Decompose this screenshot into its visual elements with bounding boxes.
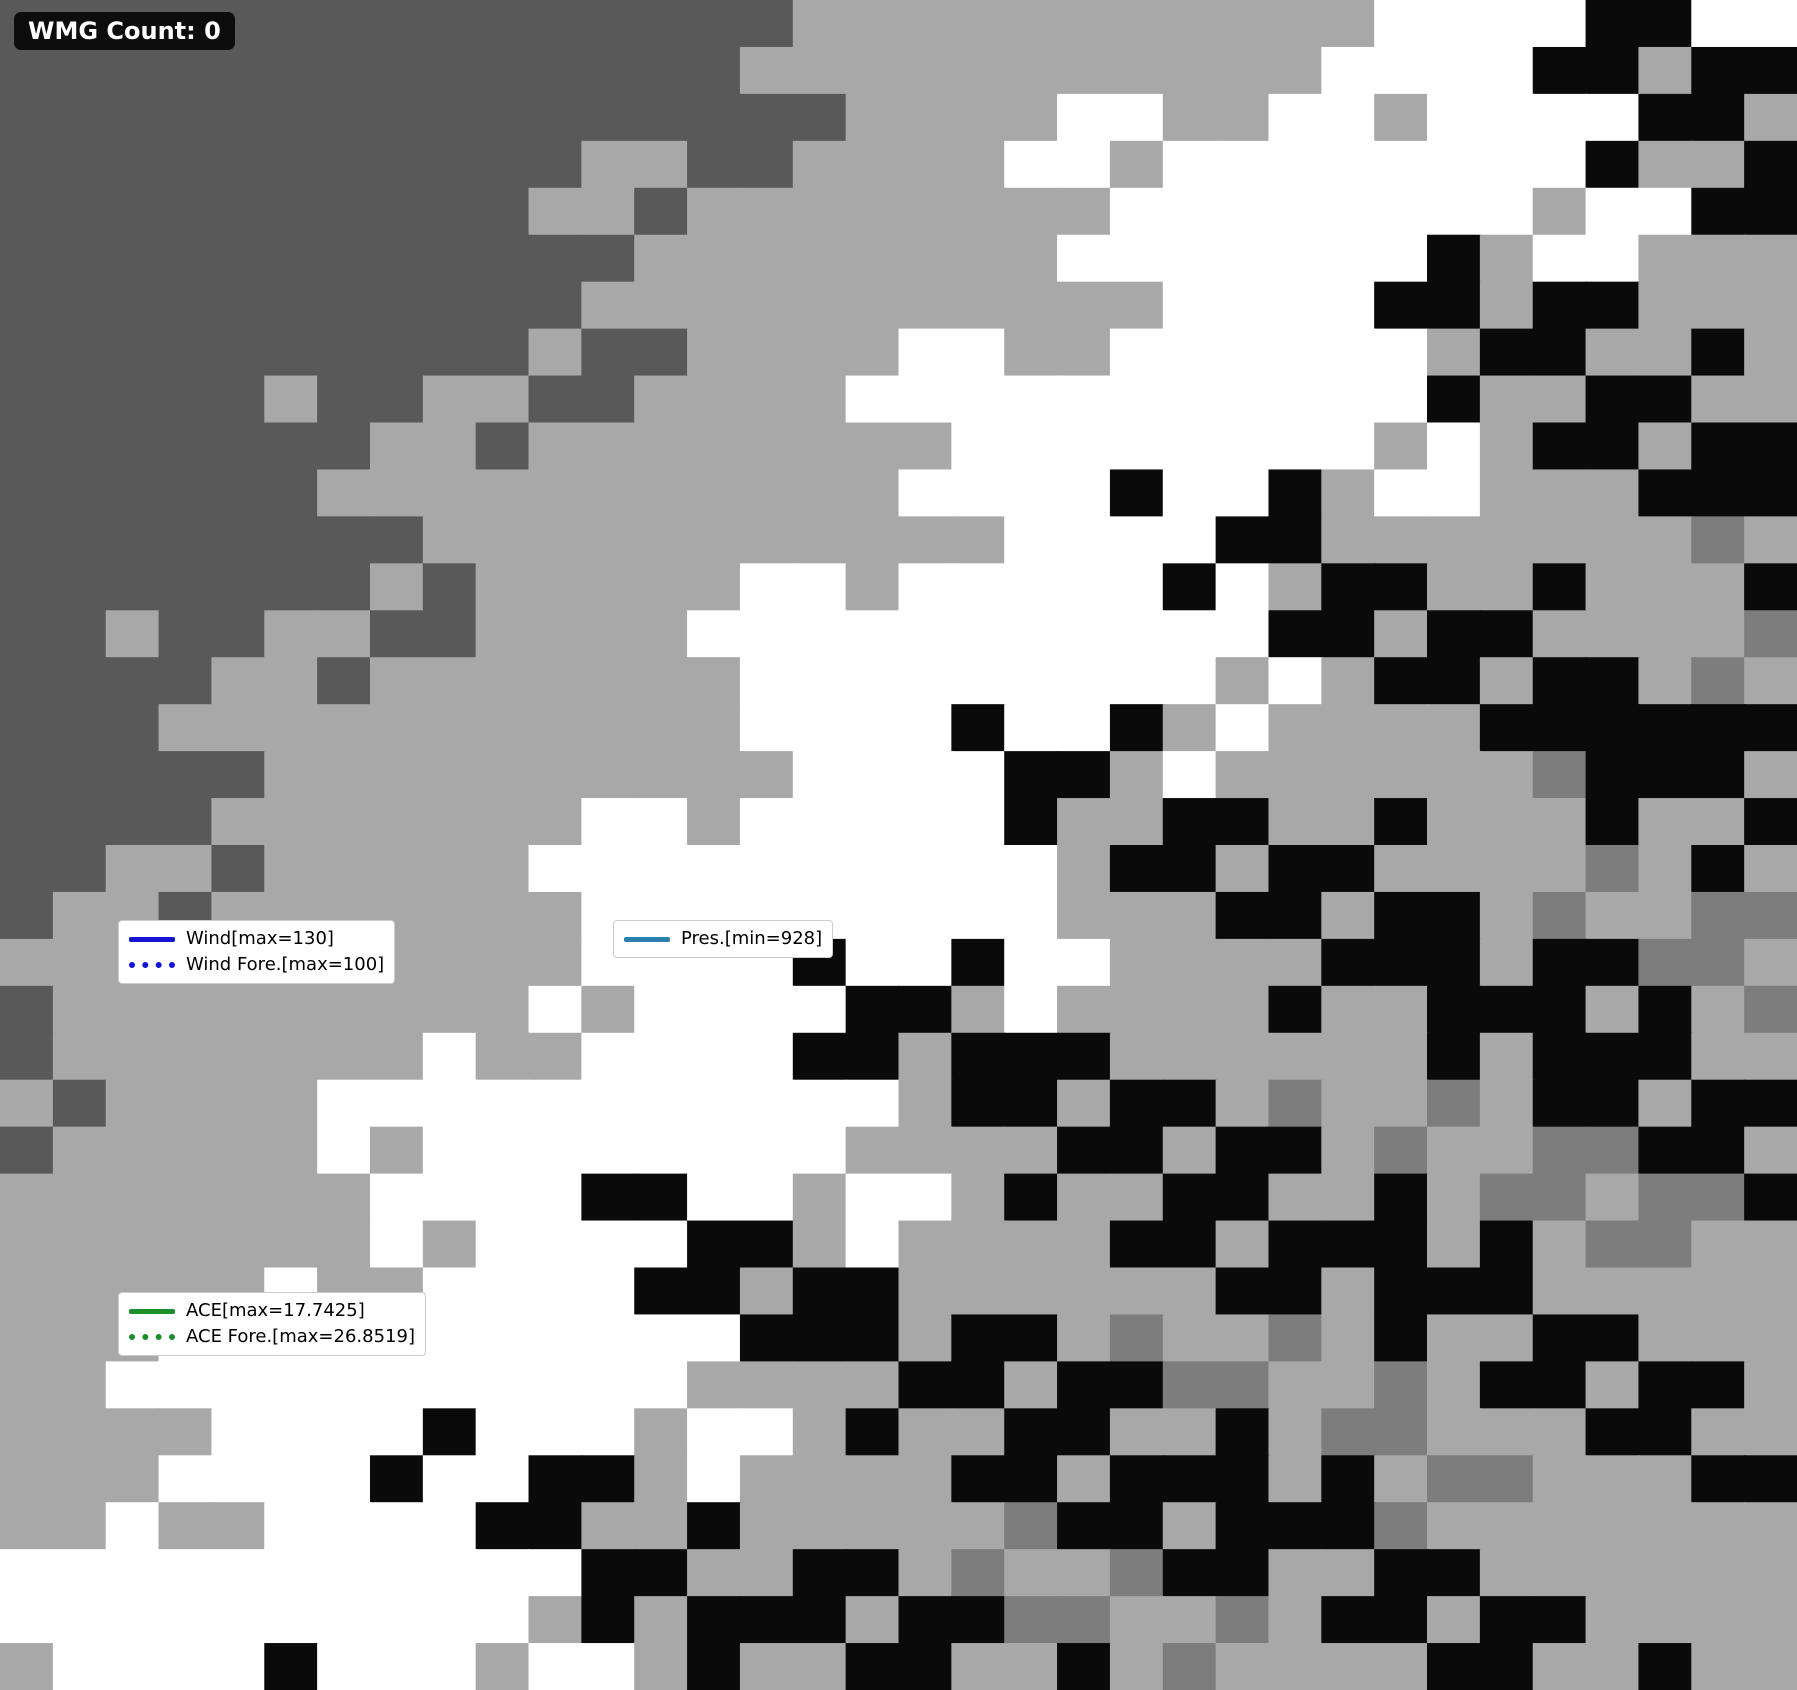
legend-item-ace: ACE[max=17.7425] <box>129 1298 415 1324</box>
solid-line-icon <box>129 937 175 942</box>
legend-label: ACE Fore.[max=26.8519] <box>186 1323 415 1351</box>
pressure-legend: Pres.[min=928] <box>613 920 833 958</box>
legend-label: Wind[max=130] <box>186 925 334 953</box>
legend-item-wind-forecast: Wind Fore.[max=100] <box>129 952 384 978</box>
legend-item-ace-forecast: ACE Fore.[max=26.8519] <box>129 1324 415 1350</box>
legend-label: Pres.[min=928] <box>681 925 822 953</box>
dotted-line-icon <box>129 962 175 968</box>
ace-legend: ACE[max=17.7425] ACE Fore.[max=26.8519] <box>118 1292 426 1356</box>
legend-label: ACE[max=17.7425] <box>186 1297 365 1325</box>
legend-item-pressure: Pres.[min=928] <box>624 926 822 952</box>
dotted-line-icon <box>129 1334 175 1340</box>
solid-line-icon <box>624 937 670 942</box>
legend-item-wind: Wind[max=130] <box>129 926 384 952</box>
legend-label: Wind Fore.[max=100] <box>186 951 384 979</box>
wind-legend: Wind[max=130] Wind Fore.[max=100] <box>118 920 395 984</box>
solid-line-icon <box>129 1309 175 1314</box>
